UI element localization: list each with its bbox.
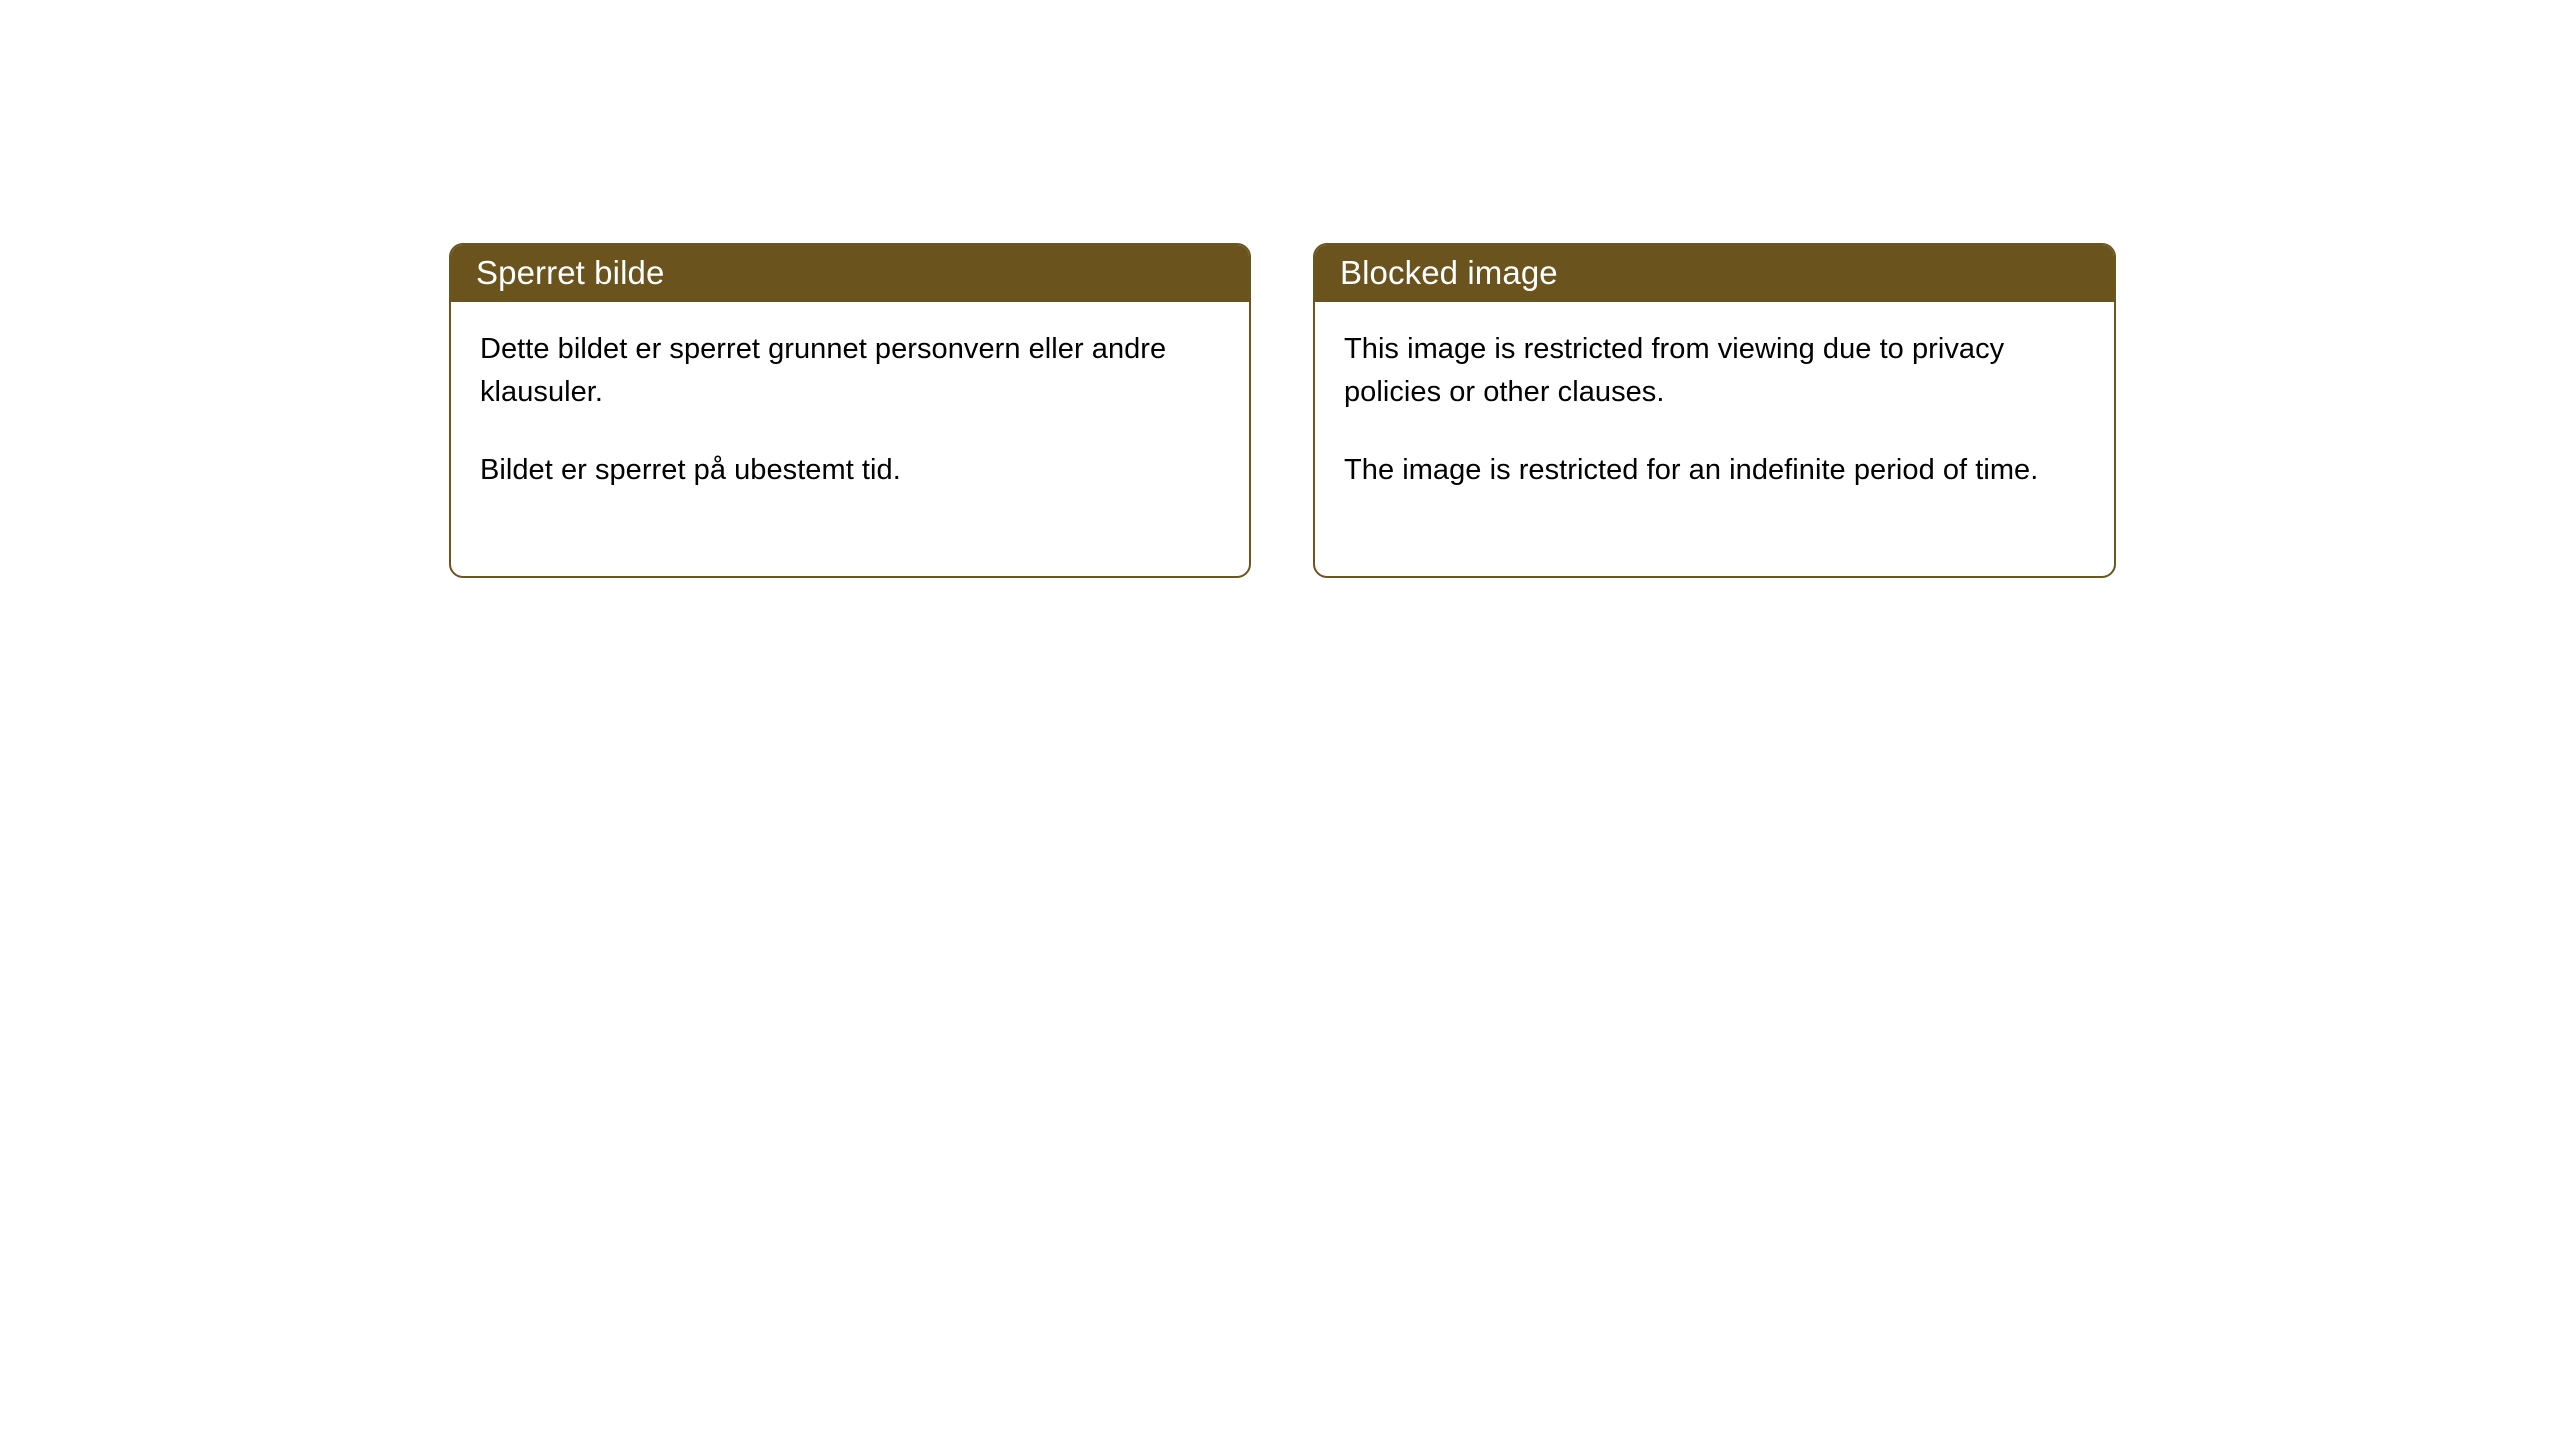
- notice-header-en: Blocked image: [1313, 243, 2116, 302]
- notice-header-no: Sperret bilde: [449, 243, 1251, 302]
- blocked-image-notice-board: Sperret bilde Dette bildet er sperret gr…: [449, 243, 2116, 578]
- notice-paragraph-reason-en: This image is restricted from viewing du…: [1344, 328, 2090, 414]
- blocked-image-notice-card-no: Sperret bilde Dette bildet er sperret gr…: [449, 243, 1251, 578]
- notice-title-no: Sperret bilde: [476, 256, 664, 289]
- notice-paragraph-reason-no: Dette bildet er sperret grunnet personve…: [480, 328, 1225, 414]
- notice-paragraph-duration-en: The image is restricted for an indefinit…: [1344, 449, 2090, 492]
- notice-paragraph-duration-no: Bildet er sperret på ubestemt tid.: [480, 449, 1225, 492]
- notice-title-en: Blocked image: [1340, 256, 1558, 289]
- notice-body-no: Dette bildet er sperret grunnet personve…: [451, 302, 1249, 576]
- notice-body-en: This image is restricted from viewing du…: [1315, 302, 2114, 576]
- blocked-image-notice-card-en: Blocked image This image is restricted f…: [1313, 243, 2116, 578]
